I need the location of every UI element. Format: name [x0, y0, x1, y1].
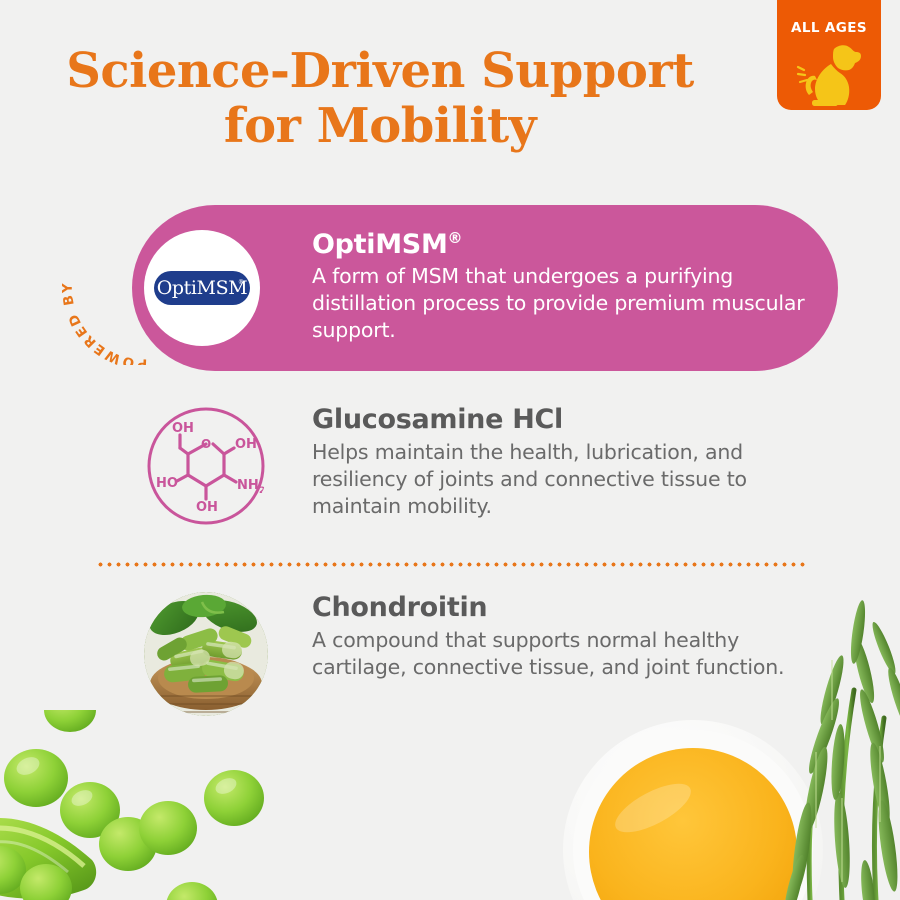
molecule-label-oh-top: OH	[172, 421, 194, 436]
glucosamine-heading: Glucosamine HCl	[312, 404, 792, 436]
oil-bowl-photo	[548, 700, 838, 900]
optimsm-logo-badge: OptiMSM ®	[144, 230, 260, 346]
molecule-label-o-ring: O	[201, 437, 211, 451]
dotted-divider	[96, 562, 806, 567]
all-ages-badge: ALL AGES	[777, 0, 881, 110]
optimsm-logo-registered-mark: ®	[238, 279, 244, 286]
page-title-line-2: for Mobility	[0, 99, 760, 154]
molecule-label-oh-right: OH	[235, 437, 257, 452]
green-capsules-photo	[144, 592, 268, 716]
optimsm-description: A form of MSM that undergoes a purifying…	[312, 263, 812, 344]
infographic-page: ALL AGES	[0, 0, 900, 900]
all-ages-label: ALL AGES	[791, 22, 867, 36]
sitting-dog-icon	[793, 40, 865, 106]
ingredient-card-optimsm: OptiMSM ® OptiMSM® A form of MSM that un…	[132, 205, 838, 371]
optimsm-heading-registered-mark: ®	[448, 229, 463, 247]
molecule-label-ho-left: HO	[156, 476, 178, 491]
optimsm-heading: OptiMSM®	[312, 229, 812, 261]
molecule-label-oh-bottom: OH	[196, 500, 218, 515]
page-title-line-1: Science-Driven Support	[0, 44, 760, 99]
glucosamine-molecule-icon: OH OH O HO OH NH 2	[144, 404, 268, 528]
page-title: Science-Driven Support for Mobility	[0, 44, 760, 154]
optimsm-logo-text: OptiMSM	[157, 279, 248, 298]
optimsm-heading-name: OptiMSM	[312, 229, 448, 260]
optimsm-text-block: OptiMSM® A form of MSM that undergoes a …	[312, 229, 812, 345]
green-peas-photo	[0, 710, 280, 900]
molecule-label-nh2: NH	[237, 478, 259, 493]
chondroitin-description: A compound that supports normal healthy …	[312, 627, 792, 681]
chondroitin-heading: Chondroitin	[312, 592, 792, 624]
optimsm-logo-icon: OptiMSM ®	[154, 271, 250, 305]
rosemary-sprigs-photo	[780, 540, 900, 900]
chondroitin-text-block: Chondroitin A compound that supports nor…	[312, 592, 792, 681]
molecule-label-nh2-subscript: 2	[259, 486, 265, 496]
glucosamine-description: Helps maintain the health, lubrication, …	[312, 439, 792, 520]
glucosamine-text-block: Glucosamine HCl Helps maintain the healt…	[312, 404, 792, 521]
